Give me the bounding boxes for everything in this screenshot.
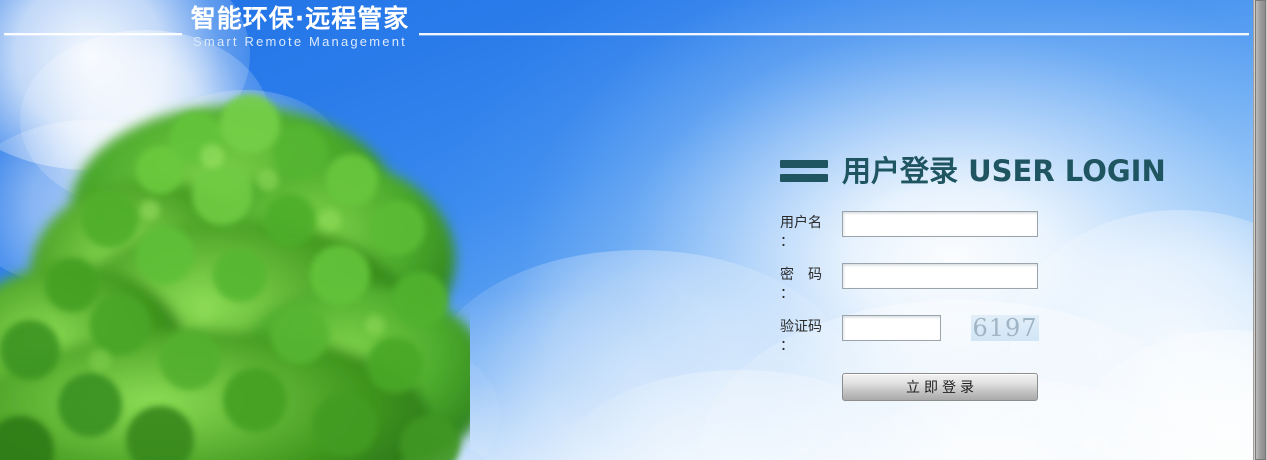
captcha-label-colon: ： xyxy=(780,337,842,356)
username-label-colon: ： xyxy=(780,233,842,252)
login-heading: 用户登录 USER LOGIN xyxy=(780,155,1140,187)
form-row-password: 密 码 ： xyxy=(780,263,1140,304)
login-button[interactable]: 立即登录 xyxy=(842,373,1038,401)
scrollbar-thumb[interactable] xyxy=(1255,0,1266,460)
login-title-text: 用户登录 USER LOGIN xyxy=(842,155,1166,187)
form-row-captcha: 验证码 ： 6197 xyxy=(780,315,1140,356)
login-panel: 用户登录 USER LOGIN 用户名 ： 密 码 ： xyxy=(780,155,1140,401)
header-rule-left xyxy=(4,33,182,35)
brand-subtitle-en: Smart Remote Management xyxy=(186,34,414,50)
captcha-input[interactable] xyxy=(842,315,941,341)
submit-row: 立即登录 xyxy=(842,373,1140,401)
password-label: 密 码 ： xyxy=(780,263,842,304)
captcha-label: 验证码 ： xyxy=(780,315,842,356)
header-rule-right xyxy=(419,33,1249,35)
brand-title-cn: 智能环保·远程管家 xyxy=(186,4,414,34)
two-bars-icon xyxy=(780,160,828,182)
browser-viewport: 智能环保·远程管家 Smart Remote Management 用户登录 U… xyxy=(0,0,1267,460)
captcha-label-text: 验证码 xyxy=(780,318,842,337)
password-label-colon: ： xyxy=(780,285,842,304)
captcha-image[interactable]: 6197 xyxy=(971,315,1039,341)
login-page: 智能环保·远程管家 Smart Remote Management 用户登录 U… xyxy=(0,0,1253,460)
vertical-scrollbar[interactable] xyxy=(1253,0,1267,460)
password-input[interactable] xyxy=(842,263,1038,289)
username-input[interactable] xyxy=(842,211,1038,237)
username-label: 用户名 ： xyxy=(780,211,842,252)
brand-block: 智能环保·远程管家 Smart Remote Management xyxy=(186,4,414,50)
page-header: 智能环保·远程管家 Smart Remote Management xyxy=(0,0,1253,62)
form-row-username: 用户名 ： xyxy=(780,211,1140,252)
password-label-text: 密 码 xyxy=(780,266,842,285)
username-label-text: 用户名 xyxy=(780,214,842,233)
